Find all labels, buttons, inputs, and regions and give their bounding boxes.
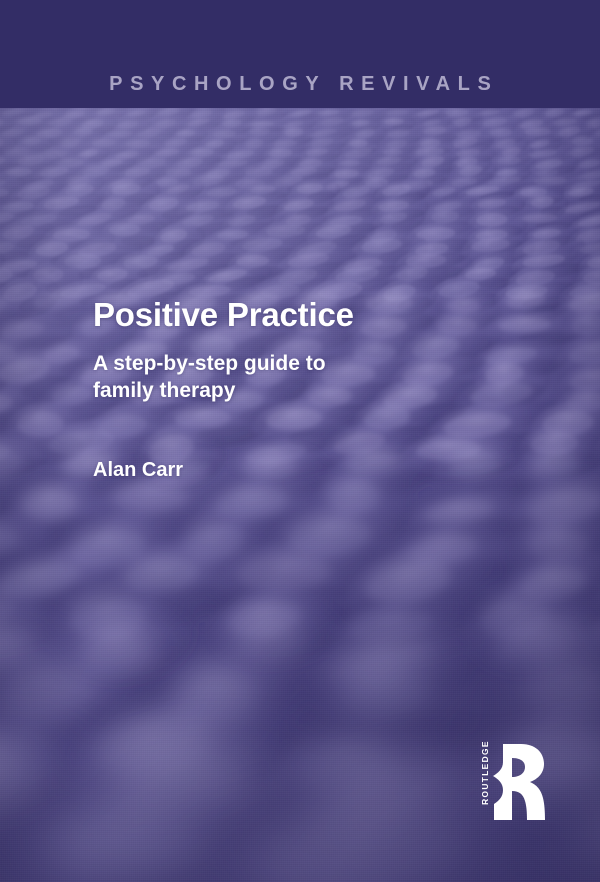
book-cover: PSYCHOLOGY REVIVALS Positive Practice A … xyxy=(0,0,600,882)
routledge-r-monogram-icon xyxy=(491,742,547,822)
book-subtitle: A step-by-step guide to family therapy xyxy=(93,350,343,405)
series-banner: PSYCHOLOGY REVIVALS xyxy=(0,0,600,108)
book-author: Alan Carr xyxy=(93,460,183,480)
cover-text-block: Positive Practice A step-by-step guide t… xyxy=(93,298,513,404)
publisher-logo: ROUTLEDGE xyxy=(466,742,556,830)
series-banner-label: PSYCHOLOGY REVIVALS xyxy=(0,74,600,94)
book-title: Positive Practice xyxy=(93,298,513,333)
publisher-name-label: ROUTLEDGE xyxy=(481,737,489,809)
